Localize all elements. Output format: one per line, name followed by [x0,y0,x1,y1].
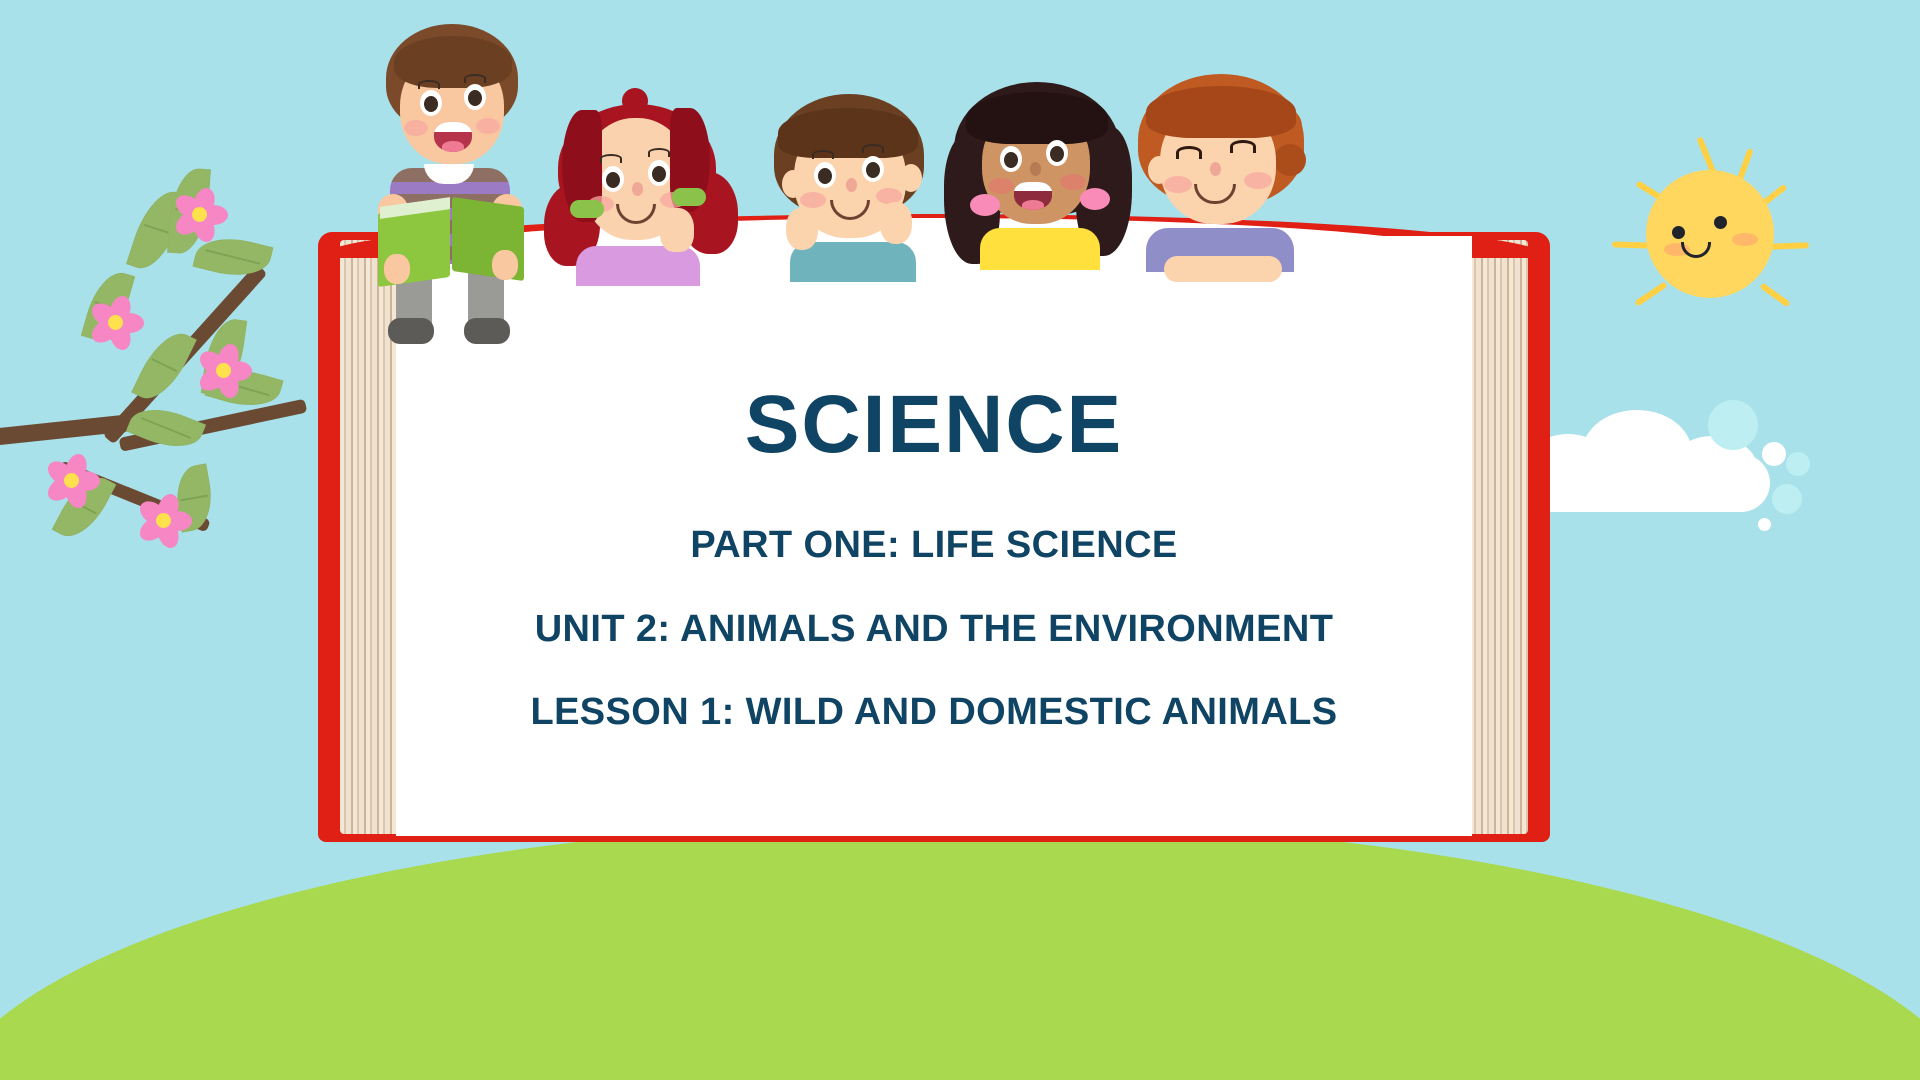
brow-left [998,134,1020,143]
flower-center [108,315,123,330]
flower [202,348,246,392]
teeth [434,122,472,132]
teeth [1014,182,1052,191]
brow-left [600,154,622,163]
shoe-left [388,318,434,344]
hairtie-pink-left [970,194,1000,216]
sun-ray [1612,241,1650,248]
brow-left [418,80,440,89]
sun-ray [1769,242,1809,249]
arm-folded [1164,256,1282,282]
subtitle-unit: UNIT 2: ANIMALS AND THE ENVIRONMENT [396,608,1472,652]
curl-c [1274,144,1306,176]
flower [94,300,138,344]
eye-closed-left [1176,146,1202,159]
shirt-pink [576,246,700,286]
child-girl-dark-hair-yellow-top [940,78,1135,263]
brow-right [1046,128,1068,137]
book-page-stack-right [1470,240,1528,834]
pupil-right [652,166,666,182]
sun-eye-right [1714,216,1727,229]
pupil-right [866,162,880,178]
shoe-right [464,318,510,344]
pupil-left [1004,152,1018,168]
eye-left [814,162,836,188]
nose [632,182,643,196]
pupil-left [424,96,438,112]
bubble-large [1708,400,1758,450]
sun-disc [1646,170,1774,298]
page-title: SCIENCE [396,382,1472,468]
bubble-white-small [1762,442,1786,466]
sun-ray [1634,281,1667,306]
child-girl-red-pigtails [548,96,738,266]
cheek-right [1244,172,1272,189]
hairtie-pink-right [1080,188,1110,210]
sun-cheek-right [1732,233,1758,246]
tongue [1022,200,1044,210]
shirt-yellow [980,228,1100,270]
cherry-blossom-branch [0,80,270,480]
cheek-right [476,118,500,134]
ear-left [782,170,804,198]
eye-left [602,166,624,192]
brow-right [648,148,670,157]
pupil-right [1050,146,1064,162]
eye-right [464,84,486,110]
pupil-left [818,168,832,184]
eye-left [1000,146,1022,172]
eye-right [1046,140,1068,166]
hand-left [384,254,410,284]
child-boy-ginger-curly [1130,70,1320,260]
cheek-right [1060,174,1086,190]
flower [142,498,186,542]
eye-closed-right [1230,140,1256,153]
hairtie-left [570,200,604,218]
slide-canvas: SCIENCE PART ONE: LIFE SCIENCE UNIT 2: A… [0,0,1920,1080]
flower-center [192,207,207,222]
eye-left [420,90,442,116]
brow-right [862,144,884,153]
smiling-sun [1624,108,1884,338]
pupil-right [468,90,482,106]
child-boy-brown-hair [768,90,948,265]
brow-left [812,150,834,159]
ear-right [900,164,922,192]
eye-right [862,156,884,182]
cheek-left [404,120,428,136]
cheek-left [988,178,1014,194]
flower-center [216,363,231,378]
hand-on-cheek [660,208,694,252]
open-mouth [434,122,472,152]
hand-right [492,250,518,280]
eye-right [648,160,670,186]
nose [1210,162,1221,176]
slide-text-block: SCIENCE PART ONE: LIFE SCIENCE UNIT 2: A… [396,382,1472,735]
subtitle-lesson: LESSON 1: WILD AND DOMESTIC ANIMALS [396,691,1472,735]
sun-eye-left [1672,226,1685,239]
sun-ray [1759,283,1790,308]
flower [50,458,94,502]
subtitle-part: PART ONE: LIFE SCIENCE [396,524,1472,568]
tongue [442,141,464,152]
pupil-left [606,172,620,188]
bubble-small [1786,452,1810,476]
nose [1030,162,1041,176]
hand-left-on-cheek [786,208,818,250]
flower-center [156,513,171,528]
brow-right [464,74,486,83]
hair-fringe [394,36,512,88]
bubble-tiny [1758,518,1771,531]
flower [178,192,222,236]
bubble-medium [1772,484,1802,514]
hair-fringe [966,92,1108,144]
open-mouth [1014,182,1052,210]
nose [846,178,857,192]
cheek-left [1164,176,1192,193]
cheek-left [800,192,826,208]
flower-center [64,473,79,488]
hairtie-right [672,188,706,206]
grass-hill [0,820,1920,1080]
hair-fringe [1146,86,1296,138]
leaf [131,324,197,408]
hand-right-on-cheek [880,202,912,244]
child-boy-reading-book [372,18,572,348]
hair-fringe [778,108,918,158]
